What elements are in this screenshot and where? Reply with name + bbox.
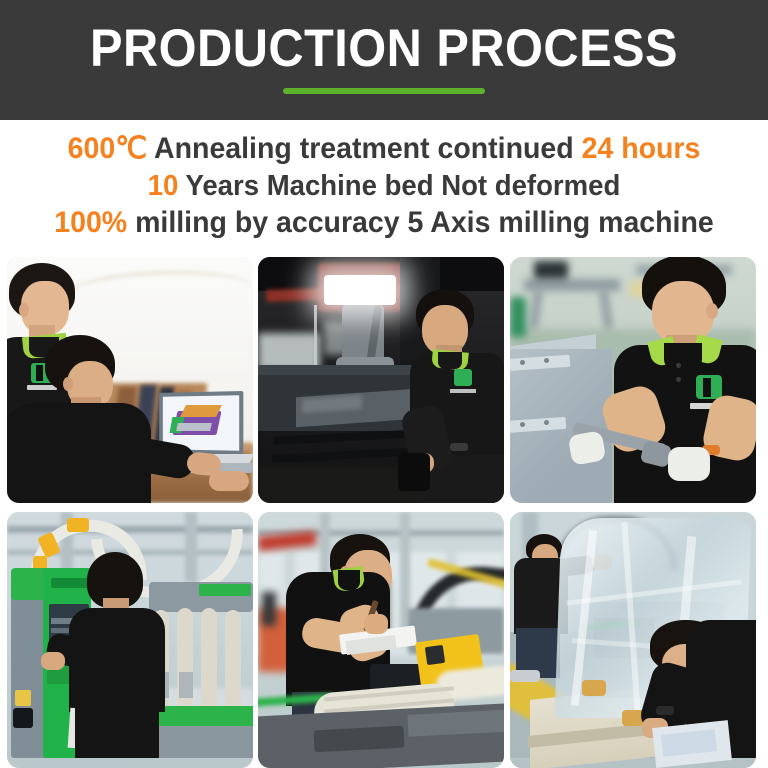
tagline-milling-accuracy: 100% milling by accuracy 5 Axis milling … (19, 206, 749, 240)
title-underline-rule (283, 88, 485, 94)
production-process-banner: PRODUCTION PROCESS 600℃ Annealing treatm… (0, 0, 768, 768)
photo-gallery-grid (7, 257, 761, 768)
photo-packing-shipping (510, 512, 756, 768)
tagline-block: 600℃ Annealing treatment continued 24 ho… (0, 122, 768, 254)
tagline-2-text: Years Machine bed Not deformed (178, 170, 620, 202)
tagline-3-text: milling by accuracy 5 Axis milling machi… (127, 206, 714, 239)
tagline-2-highlight-years: 10 (148, 170, 179, 202)
tagline-3-highlight-percent: 100% (54, 206, 127, 239)
header-bar: PRODUCTION PROCESS (0, 0, 768, 120)
page-title: PRODUCTION PROCESS (31, 22, 738, 76)
photo-cnc-machining (258, 257, 504, 503)
tagline-1-highlight-temperature: 600℃ (68, 132, 148, 165)
photo-assembly-wrench (510, 257, 756, 503)
tagline-1-text: Annealing treatment continued (147, 132, 581, 165)
photo-cad-design (7, 257, 253, 503)
tagline-annealing: 600℃ Annealing treatment continued 24 ho… (19, 132, 749, 166)
tagline-bed-stability: 10 Years Machine bed Not deformed (19, 169, 749, 203)
tagline-1-highlight-duration: 24 hours (582, 132, 701, 165)
photo-quality-inspection (258, 512, 504, 768)
photo-machine-testing (7, 512, 253, 768)
